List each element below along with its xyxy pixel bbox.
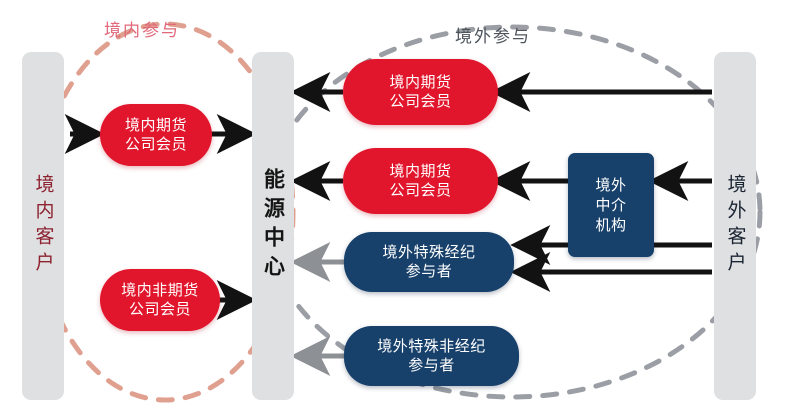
pillar-domestic-clients: 境内客户 <box>22 52 64 400</box>
pillar-overseas-clients: 境外客户 <box>714 52 756 400</box>
node-line: 公司会员 <box>389 92 451 111</box>
node-line: 公司会员 <box>125 135 187 154</box>
node-domestic-futures-member-1[interactable]: 境内期货 公司会员 <box>100 104 212 166</box>
pillar-energy-center: 能源中心 <box>252 52 294 400</box>
node-domestic-futures-member-2[interactable]: 境内期货 公司会员 <box>343 59 498 125</box>
diagram-canvas: 境内客户 能源中心 境外客户 境内参与 境外参与 境内期货 公司会员 境内非期货… <box>0 0 797 418</box>
node-line: 公司会员 <box>129 300 191 319</box>
pillar-overseas-clients-label: 境外客户 <box>726 174 745 278</box>
label-domestic-participation: 境内参与 <box>104 16 180 41</box>
node-line: 参与者 <box>406 262 453 281</box>
node-line: 境内非期货 <box>121 281 199 300</box>
node-line: 境外 <box>595 175 626 195</box>
node-line: 中介 <box>595 195 626 215</box>
node-line: 机构 <box>595 215 626 235</box>
node-line: 境内期货 <box>389 162 451 181</box>
pillar-energy-center-label: 能源中心 <box>263 168 284 284</box>
node-overseas-special-nonbroker[interactable]: 境外特殊非经纪 参与者 <box>344 326 519 386</box>
node-overseas-special-broker[interactable]: 境外特殊经纪 参与者 <box>344 232 514 292</box>
node-line: 境外特殊经纪 <box>382 243 475 262</box>
node-line: 参与者 <box>408 356 455 375</box>
pillar-domestic-clients-label: 境内客户 <box>34 174 53 278</box>
node-line: 公司会员 <box>389 181 451 200</box>
node-line: 境内期货 <box>389 73 451 92</box>
node-overseas-intermediary[interactable]: 境外 中介 机构 <box>568 153 654 257</box>
node-line: 境外特殊非经纪 <box>377 337 486 356</box>
node-line: 境内期货 <box>125 116 187 135</box>
node-domestic-futures-member-3[interactable]: 境内期货 公司会员 <box>343 148 498 214</box>
node-domestic-nonfutures-member[interactable]: 境内非期货 公司会员 <box>100 269 220 331</box>
label-overseas-participation: 境外参与 <box>455 22 531 47</box>
